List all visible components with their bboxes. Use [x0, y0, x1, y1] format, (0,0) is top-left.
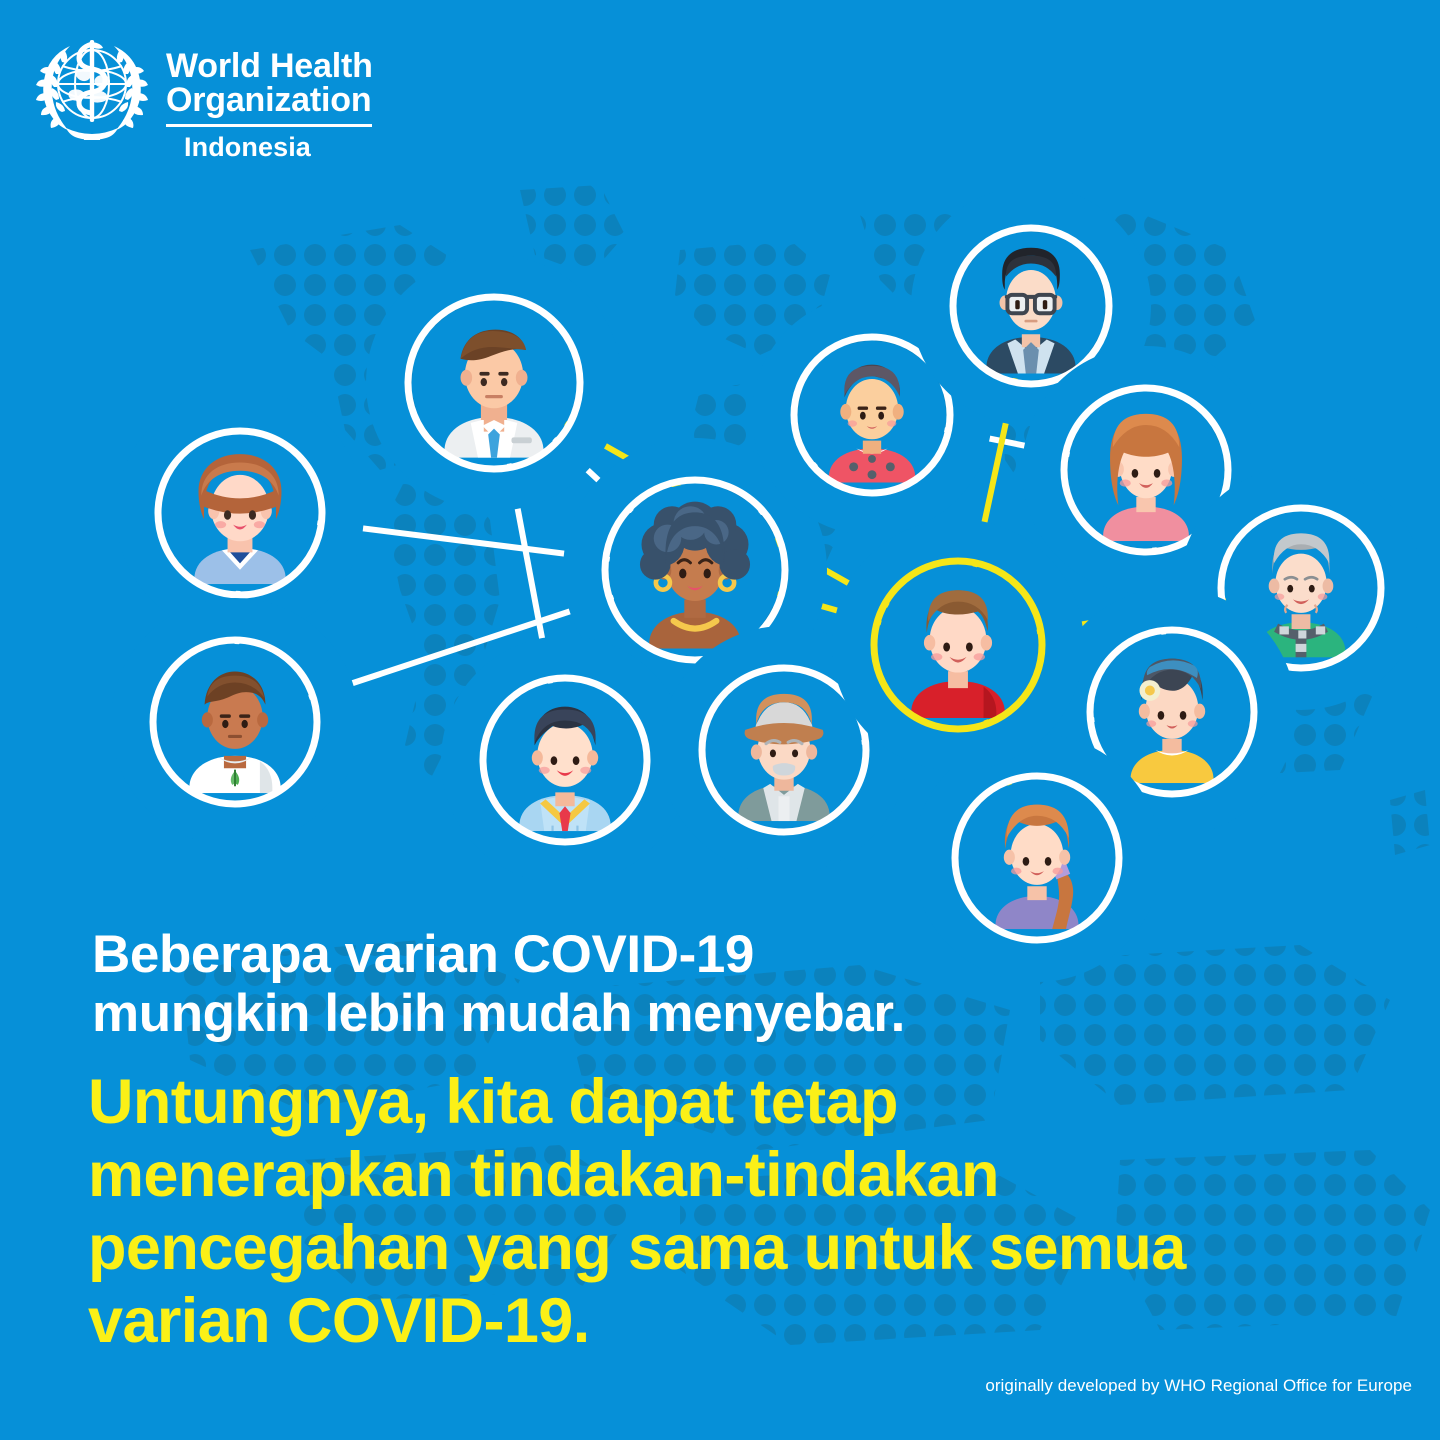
- network-node-woman-bob-blue-collar[interactable]: [136, 409, 344, 617]
- headline-white-line-1: Beberapa varian COVID-19: [92, 925, 1378, 984]
- who-org-line-2: Organization: [166, 84, 373, 118]
- network-nodes: [131, 206, 1403, 962]
- avatar-woman-pink-top-icon: [1103, 414, 1189, 541]
- headline-yellow-line-1: Untungnya, kita dapat tetap: [88, 1066, 1378, 1139]
- who-emblem-icon: [32, 28, 152, 150]
- network-node-boy-red-shirt[interactable]: [852, 539, 1064, 751]
- headline-yellow-line-3: pencegahan yang sama untuk semua: [88, 1212, 1378, 1285]
- network-node-boy-black-hair-red-tie[interactable]: [461, 656, 669, 864]
- headline-white-line-2: mungkin lebih mudah menyebar.: [92, 984, 1378, 1043]
- headline-yellow: Untungnya, kita dapat tetap menerapkan t…: [88, 1066, 1378, 1358]
- who-org-line-1: World Health: [166, 50, 373, 84]
- network-node-man-white-shirt-tie[interactable]: [386, 275, 602, 491]
- who-wordmark: World Health Organization Indonesia: [166, 28, 373, 161]
- who-logo: World Health Organization Indonesia: [32, 28, 373, 161]
- credit-line: originally developed by WHO Regional Off…: [985, 1376, 1412, 1396]
- avatar-woman-afro-earrings-icon: [640, 502, 750, 649]
- who-country-label: Indonesia: [184, 134, 373, 161]
- headline-block: Beberapa varian COVID-19 mungkin lebih m…: [88, 925, 1378, 1358]
- headline-yellow-line-4: varian COVID-19.: [88, 1285, 1378, 1358]
- headline-yellow-line-2: menerapkan tindakan-tindakan: [88, 1139, 1378, 1212]
- who-logo-divider: [166, 124, 372, 127]
- network-node-elderly-man-scarf[interactable]: [1199, 486, 1403, 690]
- infographic-canvas: World Health Organization Indonesia Bebe…: [0, 0, 1440, 1440]
- network-node-man-leaf-tshirt[interactable]: [131, 618, 339, 826]
- headline-white: Beberapa varian COVID-19 mungkin lebih m…: [92, 925, 1378, 1044]
